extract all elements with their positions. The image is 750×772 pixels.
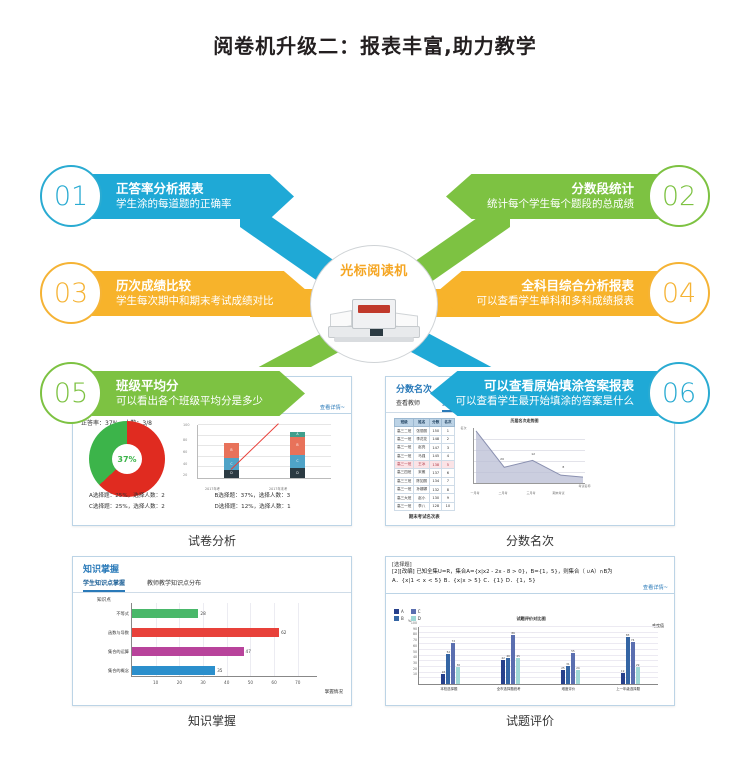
table-cell-3: 10	[442, 502, 454, 510]
group-bar-全市选择题统考-C: 86	[511, 635, 515, 684]
table-cell-3: 3	[442, 444, 454, 452]
table-cell-0: 高三一班	[395, 452, 414, 460]
feature-banner-06: 可以查看原始填涂答案报表 可以查看学生最开始填涂的答案是什么	[430, 371, 658, 416]
table-cell-2: 128	[430, 502, 442, 510]
question-tag-2: [选择题]	[392, 561, 668, 568]
y-tick-label: 20	[413, 667, 417, 671]
table-cell-2: 145	[430, 452, 442, 460]
bar-value: 55	[571, 649, 575, 653]
table-cell-0: 高三四班	[395, 469, 414, 477]
question-options-2: A．{x|1 < x < 5} B．{x|x > 5} C．{1} D．{1，5…	[392, 576, 668, 584]
knowledge-xtick-6: 70	[295, 680, 300, 685]
table-row[interactable]: 高三一班马强1454	[395, 452, 455, 460]
table-row[interactable]: 高三一班孙娜娜1328	[395, 486, 455, 494]
panel-item-eval[interactable]: [选择题] [2][改编] 已知全集U=R，集合A={x|x2 - 2x - 8…	[385, 556, 675, 729]
bar-value: 72	[452, 639, 456, 643]
bar-value: 83	[626, 633, 630, 637]
stacked-bar-mini-chart: D C B D C B A 100 80 60 40	[183, 425, 333, 491]
screenshot-item-eval[interactable]: [选择题] [2][改编] 已知全集U=R，集合A={x|x2 - 2x - 8…	[385, 556, 675, 706]
feature-item-04[interactable]: 04 全科目综合分析报表 可以查看学生单科和多科成绩报表	[435, 262, 710, 324]
hub-label: 光标阅读机	[340, 260, 408, 279]
feature-banner-01: 正答率分析报表 学生涂的每道题的正确率	[92, 174, 294, 219]
score-rank-body: 班级 姓名 分数 名次 高三二班张丽丽1501高三一班李花花1482高三一班赵亮…	[386, 413, 674, 520]
item-eval-group-chart: 试题评价对比图 难度值 % 10090807060504030201018527…	[394, 619, 668, 699]
table-cell-0: 高三二班	[395, 427, 414, 435]
bar-value: 25	[561, 666, 565, 670]
group-x-label: 难度评价	[562, 686, 576, 691]
area-xtick-4: 期末考试	[553, 491, 565, 495]
feature-number-01: 01	[40, 165, 102, 227]
panel-knowledge[interactable]: 知识掌握 学生知识点掌握 教师教学知识点分布 知识点 不等式 28	[72, 556, 352, 729]
stacked-bar-col-2: D C B A	[290, 425, 305, 478]
area-xtick-2: 二月考	[499, 491, 508, 495]
question-body-2: [2][改编] 已知全集U=R，集合A={x|x2 - 2x - 8 > 0}，…	[392, 568, 668, 576]
feature-title-06: 可以查看原始填涂答案报表	[484, 378, 634, 394]
table-cell-3: 8	[442, 486, 454, 494]
feature-number-04: 04	[648, 262, 710, 324]
group-bar-上一年级选择题-C: 74	[631, 642, 635, 684]
table-cell-0: 高三一班	[395, 502, 414, 510]
tab-teacher-knowledge[interactable]: 教师教学知识点分布	[147, 578, 201, 592]
group-chart-plot: 10090807060504030201018527230本校选择题424686…	[418, 627, 658, 685]
knowledge-bar-3: 集合的概念 35	[132, 666, 215, 675]
feature-item-01[interactable]: 01 正答率分析报表 学生涂的每道题的正确率	[40, 165, 300, 227]
knowledge-bar-1: 函数与导数 62	[132, 628, 279, 637]
knowledge-cat-0: 不等式	[116, 609, 129, 618]
y-tick-label: 90	[413, 627, 417, 631]
table-cell-1: 赵小	[414, 494, 430, 502]
table-cell-0: 高三一班	[395, 460, 414, 468]
hub-circle: 光标阅读机	[310, 245, 438, 363]
table-cell-0: 高三一班	[395, 435, 414, 443]
knowledge-cat-3: 集合的概念	[108, 666, 129, 675]
page-title: 阅卷机升级二：报表丰富,助力教学	[0, 0, 750, 59]
table-cell-1: 赵亮	[414, 444, 430, 452]
feature-banner-03: 历次成绩比较 学生每次期中和期末考试成绩对比	[92, 271, 310, 316]
option-stat-d: D选择题：12%，选择人数：1	[214, 502, 335, 510]
caption-exam-analysis: 试卷分析	[72, 532, 352, 549]
feature-title-05: 班级平均分	[116, 378, 291, 394]
feature-sub-03: 学生每次期中和期末考试成绩对比	[116, 295, 296, 309]
rank-table: 班级 姓名 分数 名次 高三二班张丽丽1501高三一班李花花1482高三一班赵亮…	[394, 418, 455, 511]
group-bar-本校选择题-D: 30	[456, 667, 460, 684]
th-class: 班级	[395, 419, 414, 427]
bar-value: 42	[501, 656, 505, 660]
feature-item-03[interactable]: 03 历次成绩比较 学生每次期中和期末考试成绩对比	[40, 262, 310, 324]
bar-value: 30	[457, 663, 461, 667]
knowledge-val-0: 28	[200, 609, 205, 618]
rank-table-wrap: 班级 姓名 分数 名次 高三二班张丽丽1501高三一班李花花1482高三一班赵亮…	[394, 418, 455, 520]
y-tick-label: 40	[413, 655, 417, 659]
group-bar-难度评价-B: 31	[566, 666, 570, 684]
knowledge-bar-2: 集合的运算 47	[132, 647, 244, 656]
bar-value: 74	[631, 638, 635, 642]
feature-banner-02: 分数段统计 统计每个学生每个题段的总成绩	[446, 174, 658, 219]
knowledge-xlabel: 掌握情况	[325, 689, 343, 695]
table-cell-1: 王冰	[414, 460, 430, 468]
y-tick-label: 80	[413, 632, 417, 636]
tab-student-knowledge[interactable]: 学生知识点掌握	[83, 578, 125, 592]
area-chart-xlabel: 考试名称	[579, 484, 591, 488]
table-cell-3: 7	[442, 477, 454, 485]
group-bar-全市选择题统考-B: 46	[506, 658, 510, 684]
donut-chart: 37%	[89, 421, 165, 497]
knowledge-xtick-2: 30	[200, 680, 205, 685]
group-chart-title: 试题评价对比图	[516, 616, 545, 622]
table-cell-3: 1	[442, 427, 454, 435]
feature-sub-02: 统计每个学生每个题段的总成绩	[487, 198, 634, 212]
gridline: 90	[419, 632, 658, 633]
caption-knowledge: 知识掌握	[72, 712, 352, 729]
option-stats: A选择题：25%，选择人数：2 B选择题：37%，选择人数：3 C选择题：25%…	[83, 489, 341, 511]
table-row[interactable]: 高三一班赵亮1473	[395, 444, 455, 452]
feature-title-01: 正答率分析报表	[116, 181, 280, 197]
table-cell-0: 高三三班	[395, 477, 414, 485]
area-xtick-1: 一月考	[471, 491, 480, 495]
table-cell-0: 高三大班	[395, 494, 414, 502]
caption-score-rank: 分数名次	[385, 532, 675, 549]
group-bar-全市选择题统考-D: 45	[516, 658, 520, 684]
group-bar-全市选择题统考-A: 42	[501, 660, 505, 684]
table-cell-1: 陈如丽	[414, 477, 430, 485]
feature-title-02: 分数段统计	[571, 181, 634, 197]
screenshot-knowledge[interactable]: 知识掌握 学生知识点掌握 教师教学知识点分布 知识点 不等式 28	[72, 556, 352, 706]
bar-value: 18	[442, 670, 446, 674]
area-chart-plot: 20 12 8	[473, 428, 585, 484]
group-bar-上一年级选择题-D: 29	[636, 667, 640, 684]
area-xtick-3: 三月考	[527, 491, 536, 495]
table-row[interactable]: 高三一班王冰1385	[395, 460, 455, 468]
rank-trend-area-chart: 历届名次走势图 名次 20 12 8 一月考 二月考	[461, 418, 589, 496]
group-x-label: 本校选择题	[440, 686, 457, 691]
table-cell-2: 148	[430, 435, 442, 443]
knowledge-xtick-4: 50	[248, 680, 253, 685]
knowledge-val-2: 47	[246, 647, 251, 656]
question-box-2: [选择题] [2][改编] 已知全集U=R，集合A={x|x2 - 2x - 8…	[386, 557, 674, 594]
bar-value: 19	[621, 669, 625, 673]
table-cell-2: 130	[430, 494, 442, 502]
knowledge-cat-2: 集合的运算	[108, 647, 129, 656]
mini-chart-axes: D C B D C B A	[197, 425, 331, 479]
feature-sub-01: 学生涂的每道题的正确率	[116, 198, 280, 212]
table-cell-2: 132	[430, 486, 442, 494]
group-bar-上一年级选择题-B: 83	[626, 637, 630, 684]
feature-sub-05: 可以看出各个班级平均分是多少	[116, 395, 291, 409]
legend-label-c: C	[418, 609, 421, 614]
bar-value: 52	[447, 650, 451, 654]
gridline: 100	[419, 626, 658, 627]
feature-number-06: 06	[648, 362, 710, 424]
bar-value: 46	[506, 654, 510, 658]
table-row[interactable]: 高三一班李八12810	[395, 502, 455, 510]
table-cell-3: 6	[442, 469, 454, 477]
option-stat-c: C选择题：25%，选择人数：2	[89, 502, 210, 510]
knowledge-plot: 不等式 28 函数与导数 62 集合的运算 47 集合的概念 35	[131, 603, 317, 677]
table-row[interactable]: 高三一班李花花1482	[395, 435, 455, 443]
table-cell-2: 134	[430, 477, 442, 485]
group-x-label: 全市选择题统考	[497, 686, 521, 691]
y-tick-label: 30	[413, 661, 417, 665]
group-bar-上一年级选择题-A: 19	[621, 673, 625, 684]
table-cell-1: 孙娜娜	[414, 486, 430, 494]
feature-title-03: 历次成绩比较	[116, 278, 296, 294]
feature-title-04: 全科目综合分析报表	[521, 278, 634, 294]
knowledge-tabs: 学生知识点掌握 教师教学知识点分布	[73, 578, 351, 593]
bar-value: 86	[511, 631, 515, 635]
stacked-bar-col-1: D C B	[224, 425, 239, 478]
feature-banner-04: 全科目综合分析报表 可以查看学生单科和多科成绩报表	[435, 271, 658, 316]
table-cell-2: 147	[430, 444, 442, 452]
table-row[interactable]: 高三二班张丽丽1501	[395, 427, 455, 435]
table-cell-1: 李花花	[414, 435, 430, 443]
bar-value: 45	[516, 654, 520, 658]
view-detail-link-2[interactable]: 查看详情~	[392, 584, 668, 591]
omr-scanner-icon	[324, 288, 424, 344]
table-cell-1: 马强	[414, 452, 430, 460]
y-tick-label: 10	[413, 672, 417, 676]
table-cell-0: 高三一班	[395, 444, 414, 452]
bar-value: 24	[576, 666, 580, 670]
table-cell-3: 5	[442, 460, 454, 468]
tab-view-teacher[interactable]: 查看教师	[396, 398, 420, 412]
group-bar-本校选择题-B: 52	[446, 654, 450, 684]
knowledge-xtick-0: 10	[153, 680, 158, 685]
bar-value: 29	[636, 663, 640, 667]
table-cell-0: 高三一班	[395, 486, 414, 494]
donut-center-label: 37%	[112, 444, 142, 474]
group-bar-难度评价-A: 25	[561, 670, 565, 684]
feature-number-03: 03	[40, 262, 102, 324]
group-bar-本校选择题-C: 72	[451, 643, 455, 684]
table-row[interactable]: 高三大班赵小1309	[395, 494, 455, 502]
y-tick-label: 50	[413, 650, 417, 654]
table-cell-1: 李八	[414, 502, 430, 510]
y-tick-label: 70	[413, 638, 417, 642]
feature-number-02: 02	[648, 165, 710, 227]
table-cell-1: 张丽丽	[414, 427, 430, 435]
table-cell-2: 138	[430, 460, 442, 468]
knowledge-val-1: 62	[281, 628, 286, 637]
y-tick-label: 60	[413, 644, 417, 648]
legend-label-a: A	[401, 609, 404, 614]
th-name: 姓名	[414, 419, 430, 427]
knowledge-cat-1: 函数与导数	[108, 628, 129, 637]
table-cell-3: 4	[442, 452, 454, 460]
feature-sub-06: 可以查看学生最开始填涂的答案是什么	[456, 395, 635, 409]
group-bar-本校选择题-A: 18	[441, 674, 445, 684]
group-bar-难度评价-C: 55	[571, 653, 575, 684]
option-stat-a: A选择题：25%，选择人数：2	[89, 491, 210, 499]
table-cell-3: 2	[442, 435, 454, 443]
rank-table-caption: 期末考试名次表	[394, 514, 455, 520]
table-cell-2: 150	[430, 427, 442, 435]
group-x-label: 上一年级选择题	[616, 686, 640, 691]
knowledge-xtick-1: 20	[177, 680, 182, 685]
knowledge-ylabel: 知识点	[97, 597, 111, 603]
table-row[interactable]: 高三四班宋雅1376	[395, 469, 455, 477]
feature-item-05[interactable]: 05 班级平均分 可以看出各个班级平均分是多少	[40, 362, 305, 424]
feature-item-02[interactable]: 02 分数段统计 统计每个学生每个题段的总成绩	[440, 165, 710, 227]
knowledge-xtick-3: 40	[224, 680, 229, 685]
feature-number-05: 05	[40, 362, 102, 424]
table-row[interactable]: 高三三班陈如丽1347	[395, 477, 455, 485]
knowledge-title: 知识掌握	[73, 557, 351, 578]
rank-table-body: 高三二班张丽丽1501高三一班李花花1482高三一班赵亮1473高三一班马强14…	[395, 427, 455, 511]
group-bar-难度评价-D: 24	[576, 670, 580, 684]
caption-item-eval: 试题评价	[385, 712, 675, 729]
screenshot-panels: [选择题] [2][改编] 已知全集U=R，集合A={x|x2 - 2x - 8…	[0, 368, 750, 772]
knowledge-xtick-5: 60	[271, 680, 276, 685]
knowledge-bar-0: 不等式 28	[132, 609, 198, 618]
feature-sub-04: 可以查看学生单科和多科成绩报表	[477, 295, 635, 309]
infographic-area: 光标阅读机 01 正答率分析报表 学生涂的每道题的正确率 02 分数段统计 统计…	[0, 77, 750, 367]
feature-banner-05: 班级平均分 可以看出各个班级平均分是多少	[92, 371, 305, 416]
bar-value: 31	[566, 662, 570, 666]
table-cell-1: 宋雅	[414, 469, 430, 477]
option-stat-b: B选择题：37%，选择人数：3	[214, 491, 335, 499]
table-cell-2: 137	[430, 469, 442, 477]
area-chart-ylabel: 名次	[461, 426, 467, 430]
knowledge-bar-chart: 知识点 不等式 28 函数与导数 62 集合的运算	[83, 599, 343, 693]
knowledge-val-3: 35	[217, 666, 222, 675]
table-cell-3: 9	[442, 494, 454, 502]
y-tick-label: 100	[411, 621, 417, 625]
feature-item-06[interactable]: 06 可以查看原始填涂答案报表 可以查看学生最开始填涂的答案是什么	[430, 362, 710, 424]
